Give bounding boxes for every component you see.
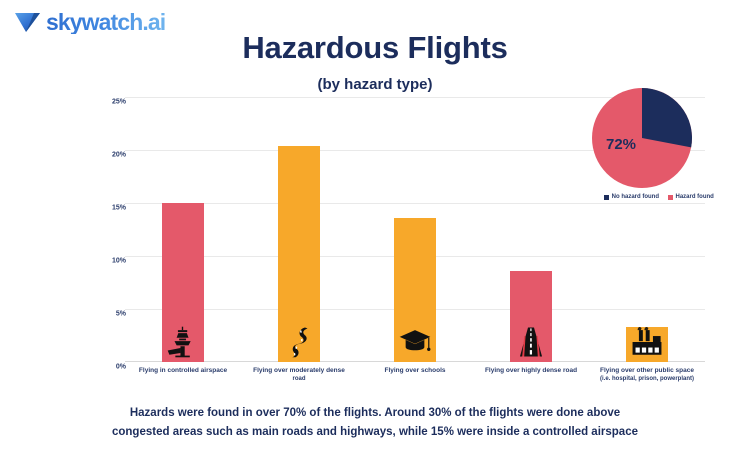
y-axis-labels: 0%5%10%15%20%25% bbox=[100, 97, 126, 362]
footer-caption: Hazards were found in over 70% of the fl… bbox=[75, 404, 675, 442]
x-axis-label-line-1: Flying over schools bbox=[384, 367, 445, 374]
caption-line-1: Hazards were found in over 70% of the fl… bbox=[75, 404, 675, 423]
x-axis-label: Flying over highly dense road bbox=[473, 366, 589, 375]
pie-legend-swatch bbox=[604, 195, 609, 200]
x-axis-label: Flying over moderately denseroad bbox=[241, 366, 357, 384]
factory-icon bbox=[630, 325, 664, 359]
x-axis-label: Flying in controlled airspace bbox=[125, 366, 241, 375]
pie-legend-item: Hazard found bbox=[668, 194, 714, 200]
x-axis-label: Flying over other public space(i.e. hosp… bbox=[589, 366, 705, 384]
page-title: Hazardous Flights bbox=[0, 30, 750, 66]
x-axis-label-line-1: Flying in controlled airspace bbox=[139, 367, 227, 374]
pie-slice-no-hazard-found bbox=[642, 88, 692, 147]
pie-center-label: 72% bbox=[606, 136, 636, 153]
bar-column[interactable] bbox=[510, 97, 552, 362]
x-axis-label-line-2: (i.e. hospital, prison, powerplant) bbox=[589, 375, 705, 384]
caption-line-2: congested areas such as main roads and h… bbox=[75, 423, 675, 442]
pie-legend: No hazard foundHazard found bbox=[584, 194, 734, 200]
pie-legend-swatch bbox=[668, 195, 673, 200]
hazard-pie-chart: 72% No hazard foundHazard found bbox=[592, 88, 702, 213]
graduation-cap-icon bbox=[398, 325, 432, 359]
y-axis-tick-label: 5% bbox=[102, 311, 126, 318]
x-axis-label-line-1: Flying over moderately dense bbox=[253, 367, 345, 374]
y-axis-tick-label: 20% bbox=[102, 152, 126, 159]
x-axis-labels: Flying in controlled airspaceFlying over… bbox=[125, 366, 705, 400]
bar-column[interactable] bbox=[394, 97, 436, 362]
y-axis-tick-label: 10% bbox=[102, 258, 126, 265]
pie-legend-label: Hazard found bbox=[676, 194, 714, 200]
control-tower-icon bbox=[166, 325, 200, 359]
pie-legend-item: No hazard found bbox=[604, 194, 659, 200]
x-axis-label-line-1: Flying over highly dense road bbox=[485, 367, 577, 374]
bar-column[interactable] bbox=[162, 97, 204, 362]
x-axis-label-line-1: Flying over other public space bbox=[600, 367, 694, 374]
winding-road-icon bbox=[282, 325, 316, 359]
highway-icon bbox=[514, 325, 548, 359]
bar-column[interactable] bbox=[278, 97, 320, 362]
x-axis-label: Flying over schools bbox=[357, 366, 473, 375]
y-axis-tick-label: 0% bbox=[102, 364, 126, 371]
y-axis-tick-label: 15% bbox=[102, 205, 126, 212]
x-axis-label-line-2: road bbox=[241, 375, 357, 384]
pie-legend-label: No hazard found bbox=[612, 194, 659, 200]
y-axis-tick-label: 25% bbox=[102, 99, 126, 106]
